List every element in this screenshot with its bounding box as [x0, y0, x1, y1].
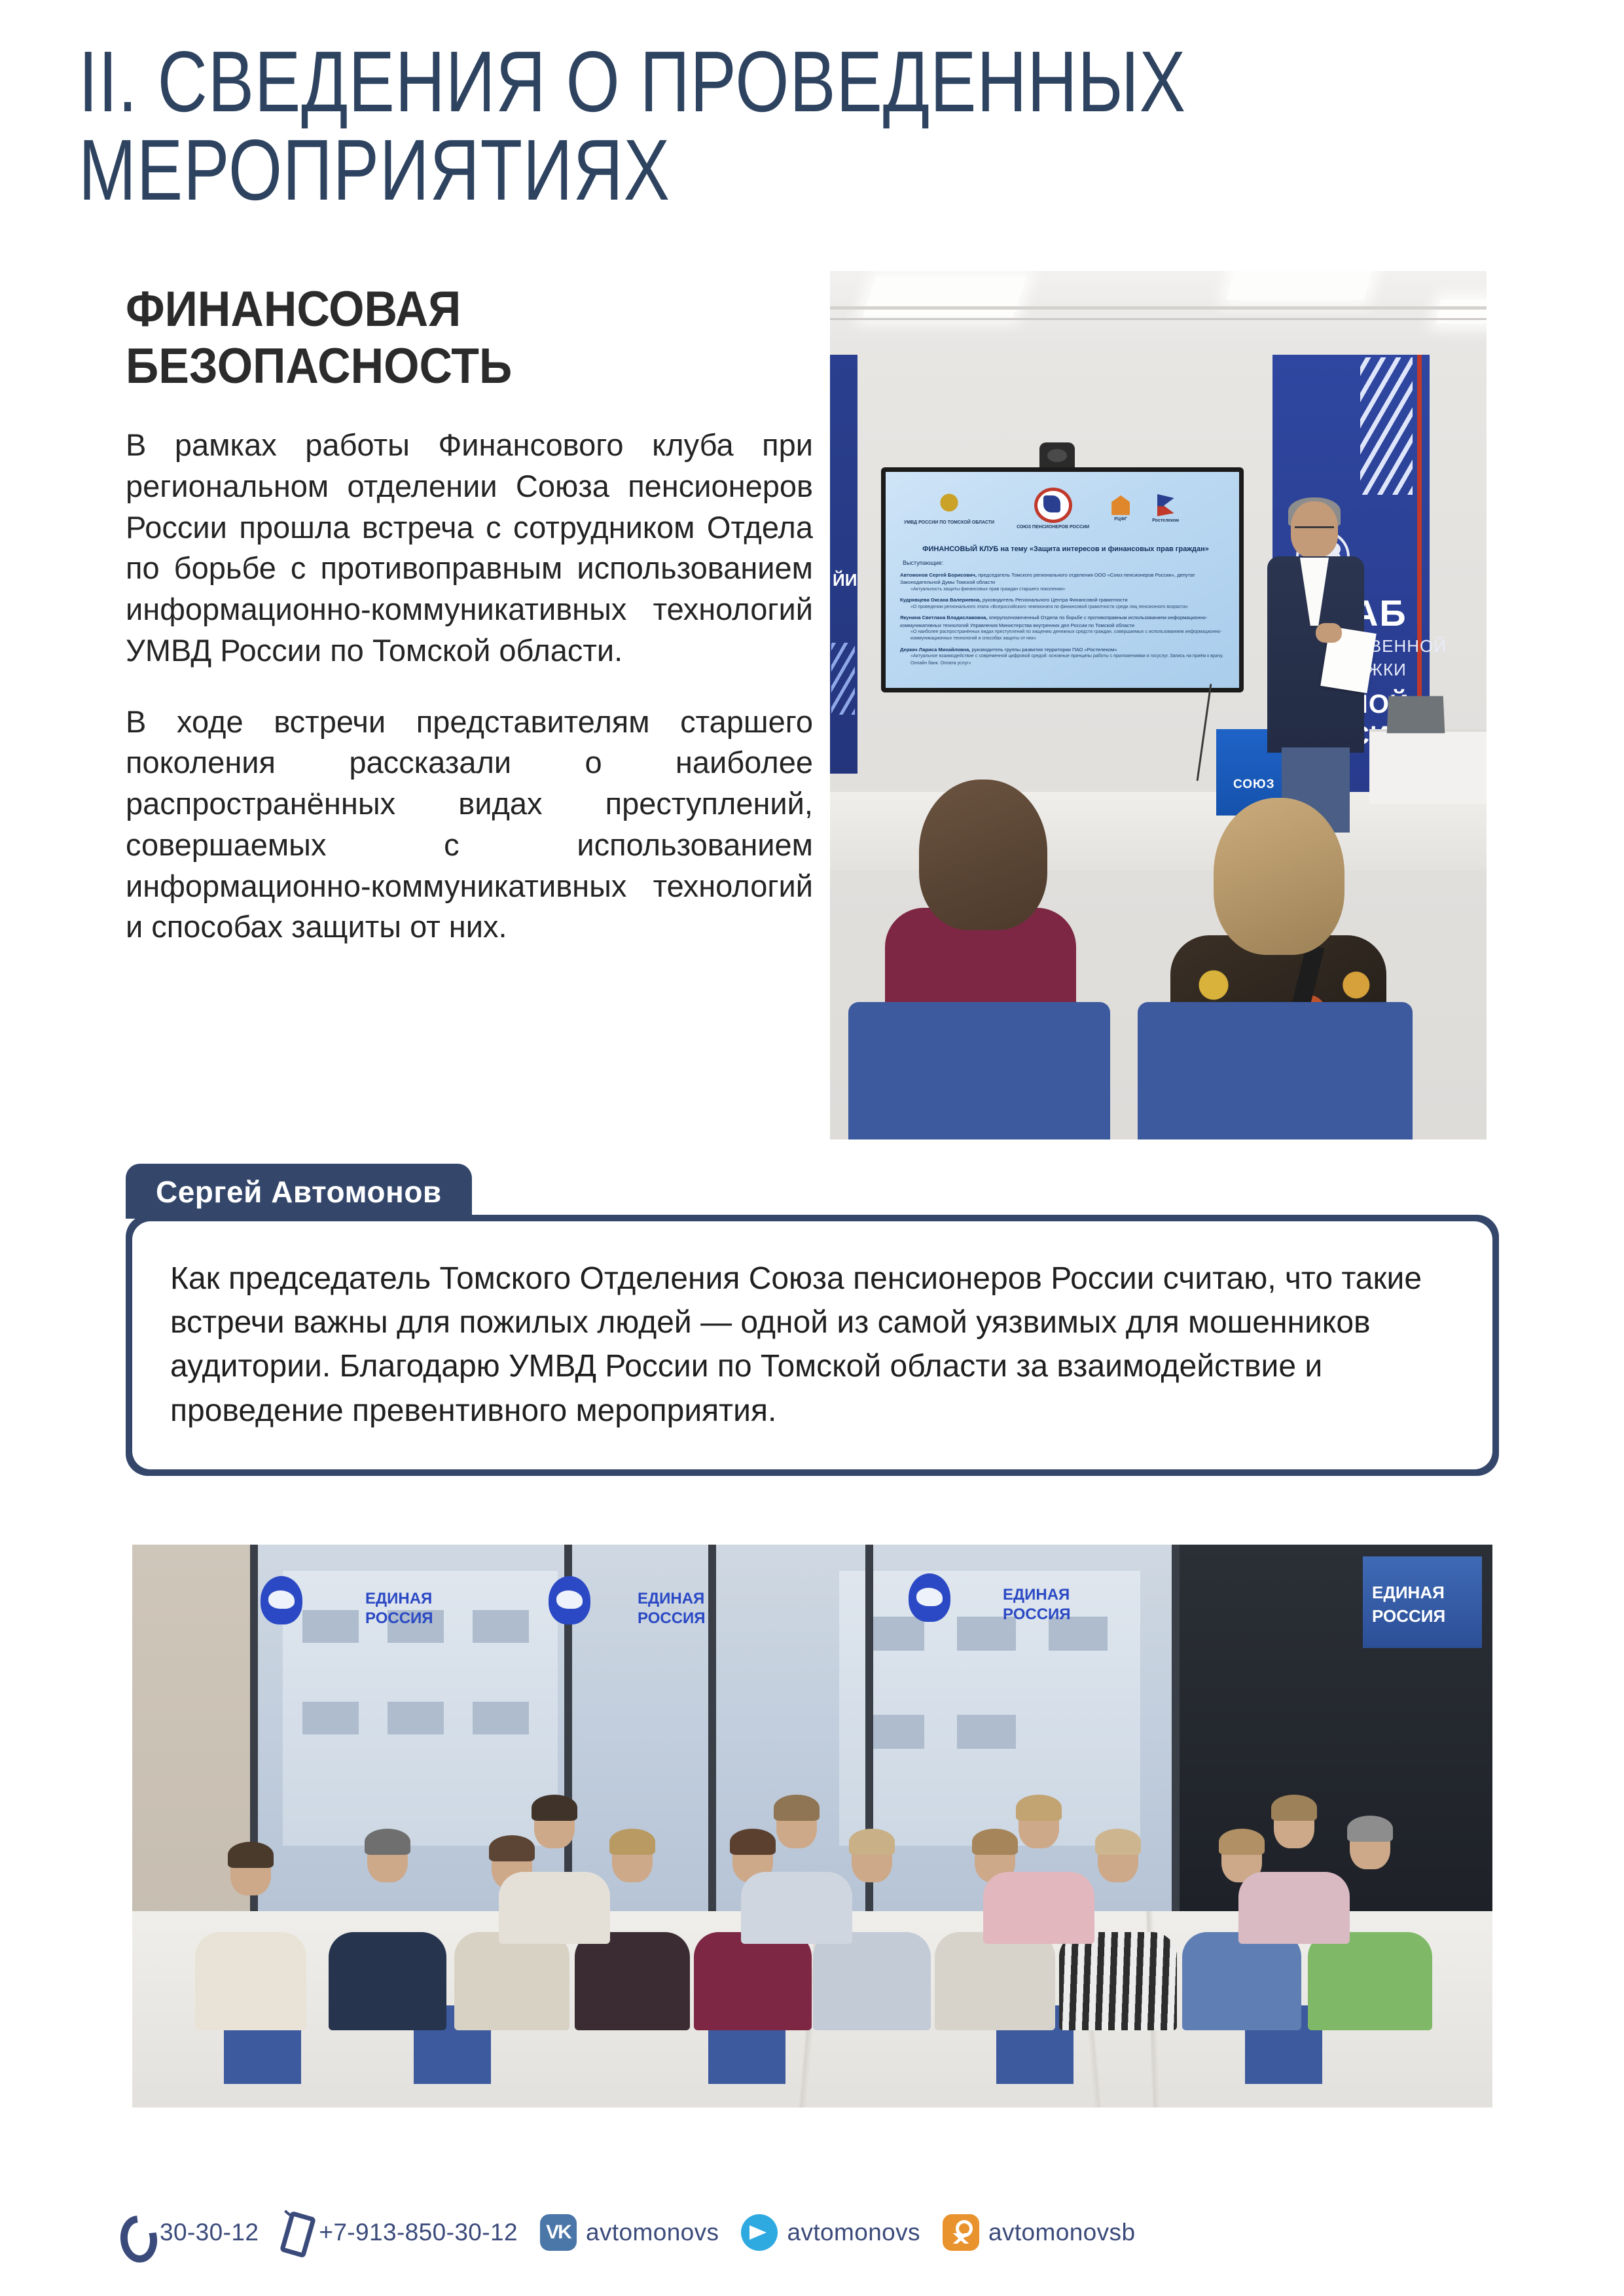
- left-banner-text: ЙИ: [833, 571, 857, 590]
- person-hair: [774, 1795, 820, 1821]
- telegram-handle: avtomonovs: [787, 2219, 920, 2246]
- speaker-topic: «Актуальное взаимодействие с современной…: [900, 653, 1229, 667]
- person-hair: [1095, 1829, 1141, 1855]
- odnoklassniki-icon[interactable]: [943, 2214, 979, 2251]
- phone-icon: [117, 2214, 151, 2251]
- wall-screen: ЕДИНАЯ РОССИЯ: [1363, 1556, 1482, 1648]
- audience-photo: ЕДИНАЯ РОССИЯ ЕДИНАЯ РОССИЯ ЕДИНАЯ РОССИ…: [132, 1545, 1492, 2108]
- person-hair: [532, 1795, 577, 1821]
- section-heading: ФИНАНСОВАЯ БЕЗОПАСНОСТЬ: [126, 281, 758, 395]
- quote-inner: Как председатель Томского Отделения Союз…: [132, 1221, 1492, 1469]
- speaker-role: руководитель группы развития территории …: [972, 647, 1117, 653]
- speaker-name: Автомонов Сергей Борисович,: [900, 572, 977, 578]
- speaker-name: Деркач Лариса Михайловна,: [900, 647, 970, 653]
- audience-person: [329, 1834, 446, 2030]
- person-body: [983, 1872, 1094, 1944]
- speaker-role: руководитель Регионального Центра Финанс…: [983, 597, 1128, 603]
- speaker-topic: «О наиболее распространённых видах прест…: [900, 629, 1229, 643]
- speaker-topic: «О проведении регионального этапа «Всеро…: [900, 604, 1229, 611]
- person-hair: [919, 780, 1047, 930]
- person-body: [1059, 1932, 1177, 2030]
- person-body: [1182, 1932, 1301, 2030]
- logo-caption: УМВД РОССИИ ПО ТОМСКОЙ ОБЛАСТИ: [904, 520, 994, 525]
- article-paragraph-2: В ходе встречи представителям старшего п…: [126, 702, 813, 948]
- logo-mvd: УМВД РОССИИ ПО ТОМСКОЙ ОБЛАСТИ: [904, 492, 994, 525]
- laptop: [1387, 696, 1445, 733]
- er-text-line-1: ЕДИНАЯ: [365, 1590, 432, 1607]
- screen-subtitle: Выступающие:: [903, 560, 943, 566]
- person-body: [499, 1872, 610, 1944]
- speaker-entry: Якунина Светлана Владиславовна, оперупол…: [900, 614, 1229, 643]
- person-body: [813, 1932, 931, 2030]
- person-hand: [1316, 623, 1342, 643]
- contact-footer: 30-30-12 +7-913-850-30-12 VK avtomonovs …: [117, 2207, 1511, 2258]
- left-banner: ЙИ: [830, 355, 857, 774]
- telegram-icon[interactable]: [741, 2214, 778, 2251]
- speaker-entry: Автомонов Сергей Борисович, председатель…: [900, 571, 1229, 593]
- vk-handle: avtomonovs: [586, 2219, 719, 2246]
- ceiling-lamp: [1227, 271, 1372, 300]
- vk-icon[interactable]: VK: [540, 2214, 577, 2251]
- speaker-person: [1262, 501, 1368, 802]
- side-desk: [1369, 729, 1487, 804]
- page-title: II. СВЕДЕНИЯ О ПРОВЕДЕННЫХ МЕРОПРИЯТИЯХ: [79, 38, 1252, 214]
- logo-caption: СОЮЗ ПЕНСИОНЕРОВ РОССИИ: [1017, 525, 1089, 529]
- er-logo-icon: [909, 1573, 950, 1622]
- screen-logo-row: УМВД РОССИИ ПО ТОМСКОЙ ОБЛАСТИ СОЮЗ ПЕНС…: [904, 481, 1226, 536]
- person-hair: [1016, 1795, 1062, 1821]
- person-body: [1238, 1872, 1350, 1944]
- speaker-topic: «Актуальность защиты финансовых прав гра…: [900, 586, 1229, 594]
- person-hair: [1271, 1795, 1317, 1821]
- chair: [848, 1002, 1110, 1139]
- banner-stripes: [1360, 357, 1413, 495]
- article-column: ФИНАНСОВАЯ БЕЗОПАСНОСТЬ В рамках работы …: [126, 281, 813, 948]
- spr-emblem-icon: [1034, 488, 1072, 523]
- screen-speaker-list: Автомонов Сергей Борисович, председатель…: [900, 571, 1229, 670]
- person-hair: [365, 1829, 410, 1855]
- logo-spr: СОЮЗ ПЕНСИОНЕРОВ РОССИИ: [1017, 488, 1089, 529]
- person-hair: [609, 1829, 655, 1855]
- audience-person: [741, 1800, 852, 1944]
- person-body: [694, 1932, 812, 2030]
- audience-person: [1238, 1800, 1350, 1944]
- speaker-name: Якунина Светлана Владиславовна,: [900, 615, 988, 620]
- person-hair: [1347, 1816, 1393, 1842]
- speaker-entry: Кудрявцева Оксана Валериевна, руководите…: [900, 596, 1229, 611]
- quote-author-tab: Сергей Автомонов: [126, 1164, 472, 1219]
- speaker-entry: Деркач Лариса Михайловна, руководитель г…: [900, 646, 1229, 667]
- quote-frame: Как председатель Томского Отделения Союз…: [126, 1215, 1499, 1476]
- mvd-emblem-icon: [935, 492, 963, 518]
- logo-rcfg: РЦФГ: [1111, 495, 1130, 522]
- person-body: [329, 1932, 446, 2030]
- audience-person: [195, 1847, 306, 2030]
- meeting-photo: ЙИ ШТАБ ОБЩЕСТВЕННОЙ ПОДДЕРЖКИ ЕДИНОЙ РО…: [830, 271, 1487, 1139]
- er-text-line-2: РОССИЯ: [1003, 1606, 1071, 1623]
- screen-title: ФИНАНСОВЫЙ КЛУБ на тему «Защита интересо…: [905, 545, 1226, 553]
- er-logo-icon: [549, 1576, 590, 1624]
- logo-caption: РЦФГ: [1114, 517, 1127, 522]
- er-logo-icon: [261, 1576, 302, 1624]
- vk-contact[interactable]: VK avtomonovs: [518, 2214, 719, 2251]
- poster-page: II. СВЕДЕНИЯ О ПРОВЕДЕННЫХ МЕРОПРИЯТИЯХ …: [0, 0, 1624, 2296]
- telegram-contact[interactable]: avtomonovs: [719, 2214, 920, 2251]
- mobile-contact[interactable]: +7-913-850-30-12: [259, 2212, 518, 2253]
- quote-block: Сергей Автомонов Как председатель Томско…: [126, 1164, 1499, 1476]
- screen-content: УМВД РОССИИ ПО ТОМСКОЙ ОБЛАСТИ СОЮЗ ПЕНС…: [886, 472, 1239, 688]
- banner-stripes: [831, 643, 855, 715]
- er-text-line-1: ЕДИНАЯ: [638, 1590, 704, 1607]
- chair: [1138, 1002, 1413, 1139]
- er-text-line-2: РОССИЯ: [365, 1610, 433, 1626]
- audience-person: [983, 1800, 1094, 1944]
- mobile-phone-icon: [281, 2212, 311, 2253]
- ceiling-pipe: [830, 306, 1487, 310]
- person-body: [575, 1932, 690, 2030]
- speaker-name: Кудрявцева Оксана Валериевна,: [900, 597, 981, 603]
- person-body: [454, 1932, 569, 2030]
- er-text-line-2: РОССИЯ: [638, 1610, 706, 1626]
- odnoklassniki-handle: avtomonovsb: [988, 2219, 1135, 2246]
- person-body: [1308, 1932, 1432, 2030]
- mobile-number: +7-913-850-30-12: [319, 2219, 518, 2246]
- person-hair: [228, 1842, 274, 1868]
- quote-text: Как председатель Томского Отделения Союз…: [170, 1257, 1453, 1433]
- person-glasses: [1295, 526, 1334, 536]
- logo-rostelecom: Ростелеком: [1152, 494, 1179, 523]
- screen-text-line-1: ЕДИНАЯ: [1372, 1583, 1445, 1603]
- rcfg-emblem-icon: [1111, 495, 1130, 515]
- screen-text-line-2: РОССИЯ: [1372, 1606, 1445, 1626]
- presentation-screen: УМВД РОССИИ ПО ТОМСКОЙ ОБЛАСТИ СОЮЗ ПЕНС…: [881, 467, 1244, 692]
- person-hair: [1214, 798, 1344, 955]
- odnoklassniki-contact[interactable]: avtomonovsb: [920, 2214, 1135, 2251]
- logo-caption: Ростелеком: [1152, 518, 1179, 523]
- ceiling-lamp: [863, 276, 1026, 317]
- person-body: [935, 1932, 1055, 2030]
- person-body: [195, 1932, 306, 2030]
- phone-number: 30-30-12: [160, 2219, 259, 2246]
- article-paragraph-1: В рамках работы Финансового клуба при ре…: [126, 425, 813, 671]
- person-body: [741, 1872, 852, 1944]
- rostelecom-emblem-icon: [1157, 494, 1174, 516]
- audience-person: [499, 1800, 610, 1944]
- er-text-line-1: ЕДИНАЯ: [1003, 1587, 1070, 1603]
- person-hair: [849, 1829, 895, 1855]
- ceiling-pipe: [830, 318, 1487, 320]
- phone-contact[interactable]: 30-30-12: [117, 2214, 259, 2251]
